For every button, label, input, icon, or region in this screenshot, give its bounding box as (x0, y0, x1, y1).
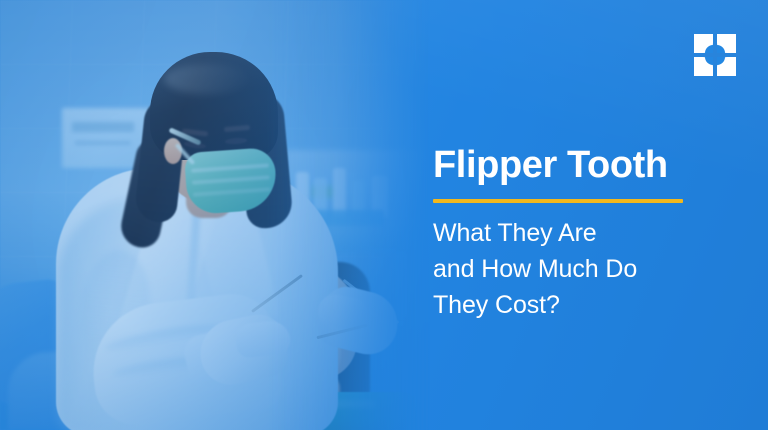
brand-logo-icon[interactable] (694, 34, 736, 76)
logo-quadrant-top-right-icon (717, 34, 736, 53)
page-subtitle-line-1: What They Are (433, 215, 733, 251)
logo-quadrant-bottom-left-icon (694, 57, 713, 76)
page-title: Flipper Tooth (433, 142, 733, 188)
page-subtitle-line-2: and How Much Do (433, 251, 733, 287)
logo-quadrant-bottom-right-icon (717, 57, 736, 76)
logo-quadrant-top-left-icon (694, 34, 713, 53)
page-subtitle: What They Are and How Much Do They Cost? (433, 215, 733, 323)
hero-photo (0, 0, 430, 430)
article-hero-banner: Flipper Tooth What They Are and How Much… (0, 0, 768, 430)
page-subtitle-line-3: They Cost? (433, 287, 733, 323)
hero-text-block: Flipper Tooth What They Are and How Much… (433, 142, 733, 323)
photo-vignette (0, 0, 430, 430)
title-underline-rule (433, 199, 683, 203)
